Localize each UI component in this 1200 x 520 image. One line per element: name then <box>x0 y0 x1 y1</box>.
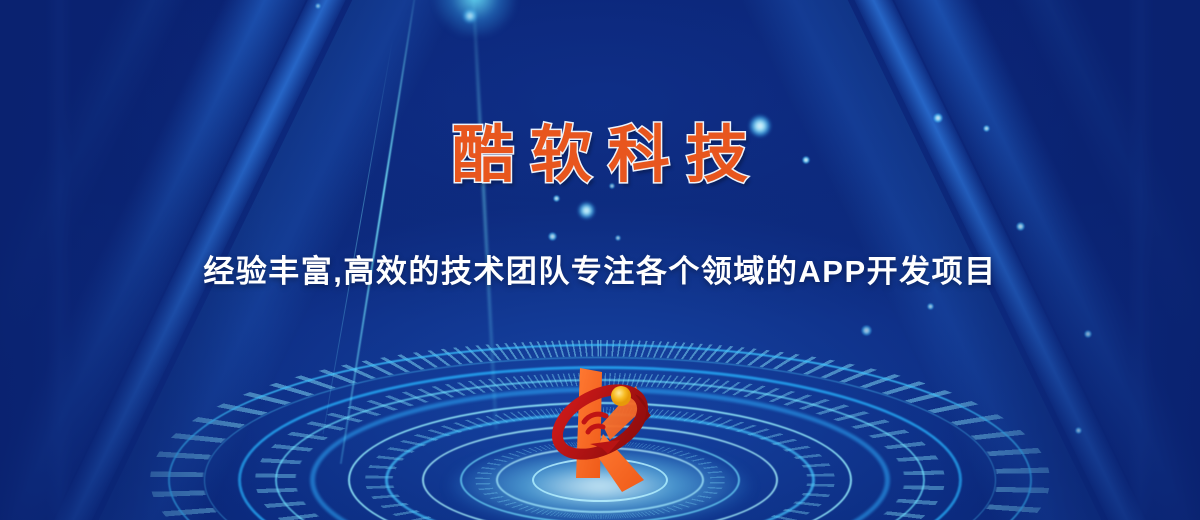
radar-tick-ring <box>475 441 725 519</box>
page-subtitle: 经验丰富,高效的技术团队专注各个领域的APP开发项目 <box>0 246 1200 291</box>
bokeh-dot-icon <box>615 235 621 241</box>
k-monogram-logo-icon <box>540 360 660 500</box>
hero-banner: 酷软科技 酷软科技 经验丰富,高效的技术团队专注各个领域的APP开发项目 <box>0 0 1200 520</box>
bokeh-dot-icon <box>1075 427 1082 434</box>
radar-tick-ring <box>365 407 835 520</box>
page-title: 酷软科技 <box>0 104 1200 194</box>
bokeh-dot-icon <box>578 202 595 219</box>
bokeh-dot-icon <box>315 3 321 9</box>
radar-ring <box>238 366 962 520</box>
bokeh-dot-icon <box>861 325 872 336</box>
bokeh-dot-icon <box>548 232 557 241</box>
radar-ring <box>496 447 704 513</box>
top-glow-icon <box>430 0 520 36</box>
radar-tick-ring <box>150 340 1050 520</box>
radar-tick-ring <box>255 373 945 520</box>
radar-core-glow <box>450 446 750 520</box>
light-beam-icon <box>340 0 420 464</box>
radar-ring <box>385 413 815 520</box>
radar-ring <box>168 344 1032 520</box>
radar-ring <box>310 387 890 520</box>
radar-ring <box>275 379 925 520</box>
radar-ring <box>422 425 778 520</box>
radar-ring <box>532 458 668 502</box>
bokeh-dot-icon <box>927 303 934 310</box>
radar-platform-icon <box>140 330 1060 520</box>
radar-ring <box>348 402 852 520</box>
bokeh-dot-icon <box>1084 330 1092 338</box>
radar-ring <box>460 436 740 520</box>
bokeh-dot-icon <box>1016 222 1025 231</box>
light-beam-icon-thin <box>323 40 393 434</box>
light-beam-icon-soft <box>470 0 498 429</box>
bokeh-dot-icon <box>463 9 477 23</box>
radar-ring <box>204 357 996 520</box>
